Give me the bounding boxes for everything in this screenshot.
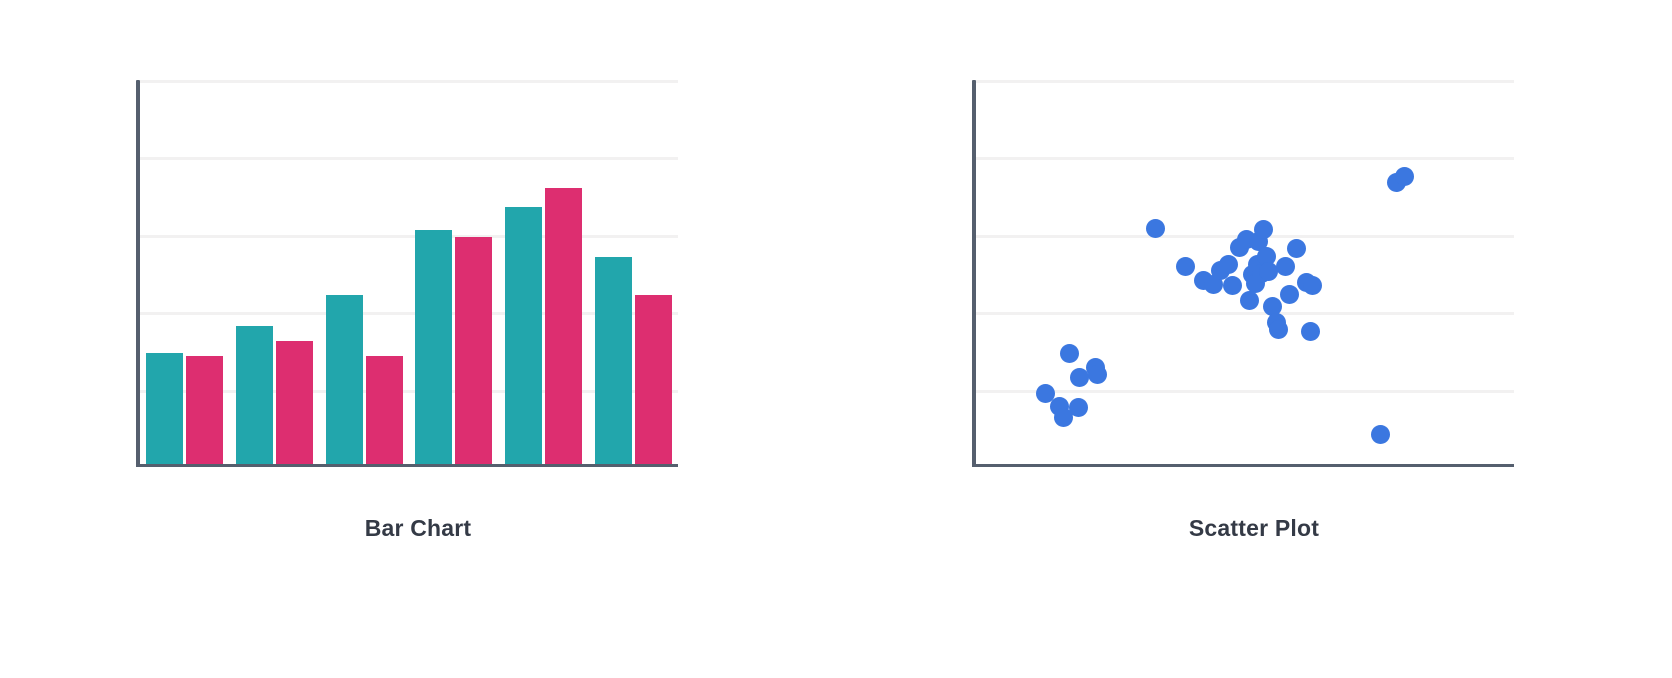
bar-chart-y-axis <box>136 80 140 467</box>
scatter-plot-x-axis <box>972 464 1514 467</box>
scatter-point[interactable] <box>1219 255 1238 274</box>
scatter-point[interactable] <box>1254 220 1273 239</box>
bar-0-5[interactable] <box>595 257 632 464</box>
scatter-point[interactable] <box>1060 344 1079 363</box>
scatter-plot-panel: Scatter Plot <box>836 0 1672 678</box>
bar-1-2[interactable] <box>366 356 403 464</box>
scatter-point[interactable] <box>1301 322 1320 341</box>
scatter-point[interactable] <box>1146 219 1165 238</box>
scatter-point[interactable] <box>1088 365 1107 384</box>
bar-0-3[interactable] <box>415 230 452 464</box>
scatter-point[interactable] <box>1303 276 1322 295</box>
scatter-point[interactable] <box>1371 425 1390 444</box>
scatter-point[interactable] <box>1269 320 1288 339</box>
bar-0-4[interactable] <box>505 207 542 464</box>
scatter-point[interactable] <box>1395 167 1414 186</box>
bar-chart-caption: Bar Chart <box>0 515 836 542</box>
bar-chart-bars <box>140 80 678 464</box>
scatter-point[interactable] <box>1259 262 1278 281</box>
bar-1-3[interactable] <box>455 237 492 464</box>
bar-1-4[interactable] <box>545 188 582 464</box>
bar-0-2[interactable] <box>326 295 363 464</box>
scatter-point[interactable] <box>1223 276 1242 295</box>
bar-chart-panel: Bar Chart <box>0 0 836 678</box>
bar-1-1[interactable] <box>276 341 313 464</box>
bar-chart-x-axis <box>136 464 678 467</box>
bar-chart-plot-area <box>136 80 678 467</box>
bar-1-5[interactable] <box>635 295 672 464</box>
bar-0-0[interactable] <box>146 353 183 464</box>
scatter-point[interactable] <box>1176 257 1195 276</box>
scatter-point[interactable] <box>1240 291 1259 310</box>
charts-canvas: Bar Chart Scatter Plot <box>0 0 1672 678</box>
scatter-plot-plot-area <box>972 80 1514 467</box>
scatter-point[interactable] <box>1069 398 1088 417</box>
scatter-point[interactable] <box>1280 285 1299 304</box>
scatter-point[interactable] <box>1276 257 1295 276</box>
bar-0-1[interactable] <box>236 326 273 464</box>
scatter-plot-caption: Scatter Plot <box>836 515 1672 542</box>
scatter-plot-points <box>976 80 1514 467</box>
scatter-point[interactable] <box>1287 239 1306 258</box>
scatter-plot-y-axis <box>972 80 976 467</box>
bar-1-0[interactable] <box>186 356 223 464</box>
